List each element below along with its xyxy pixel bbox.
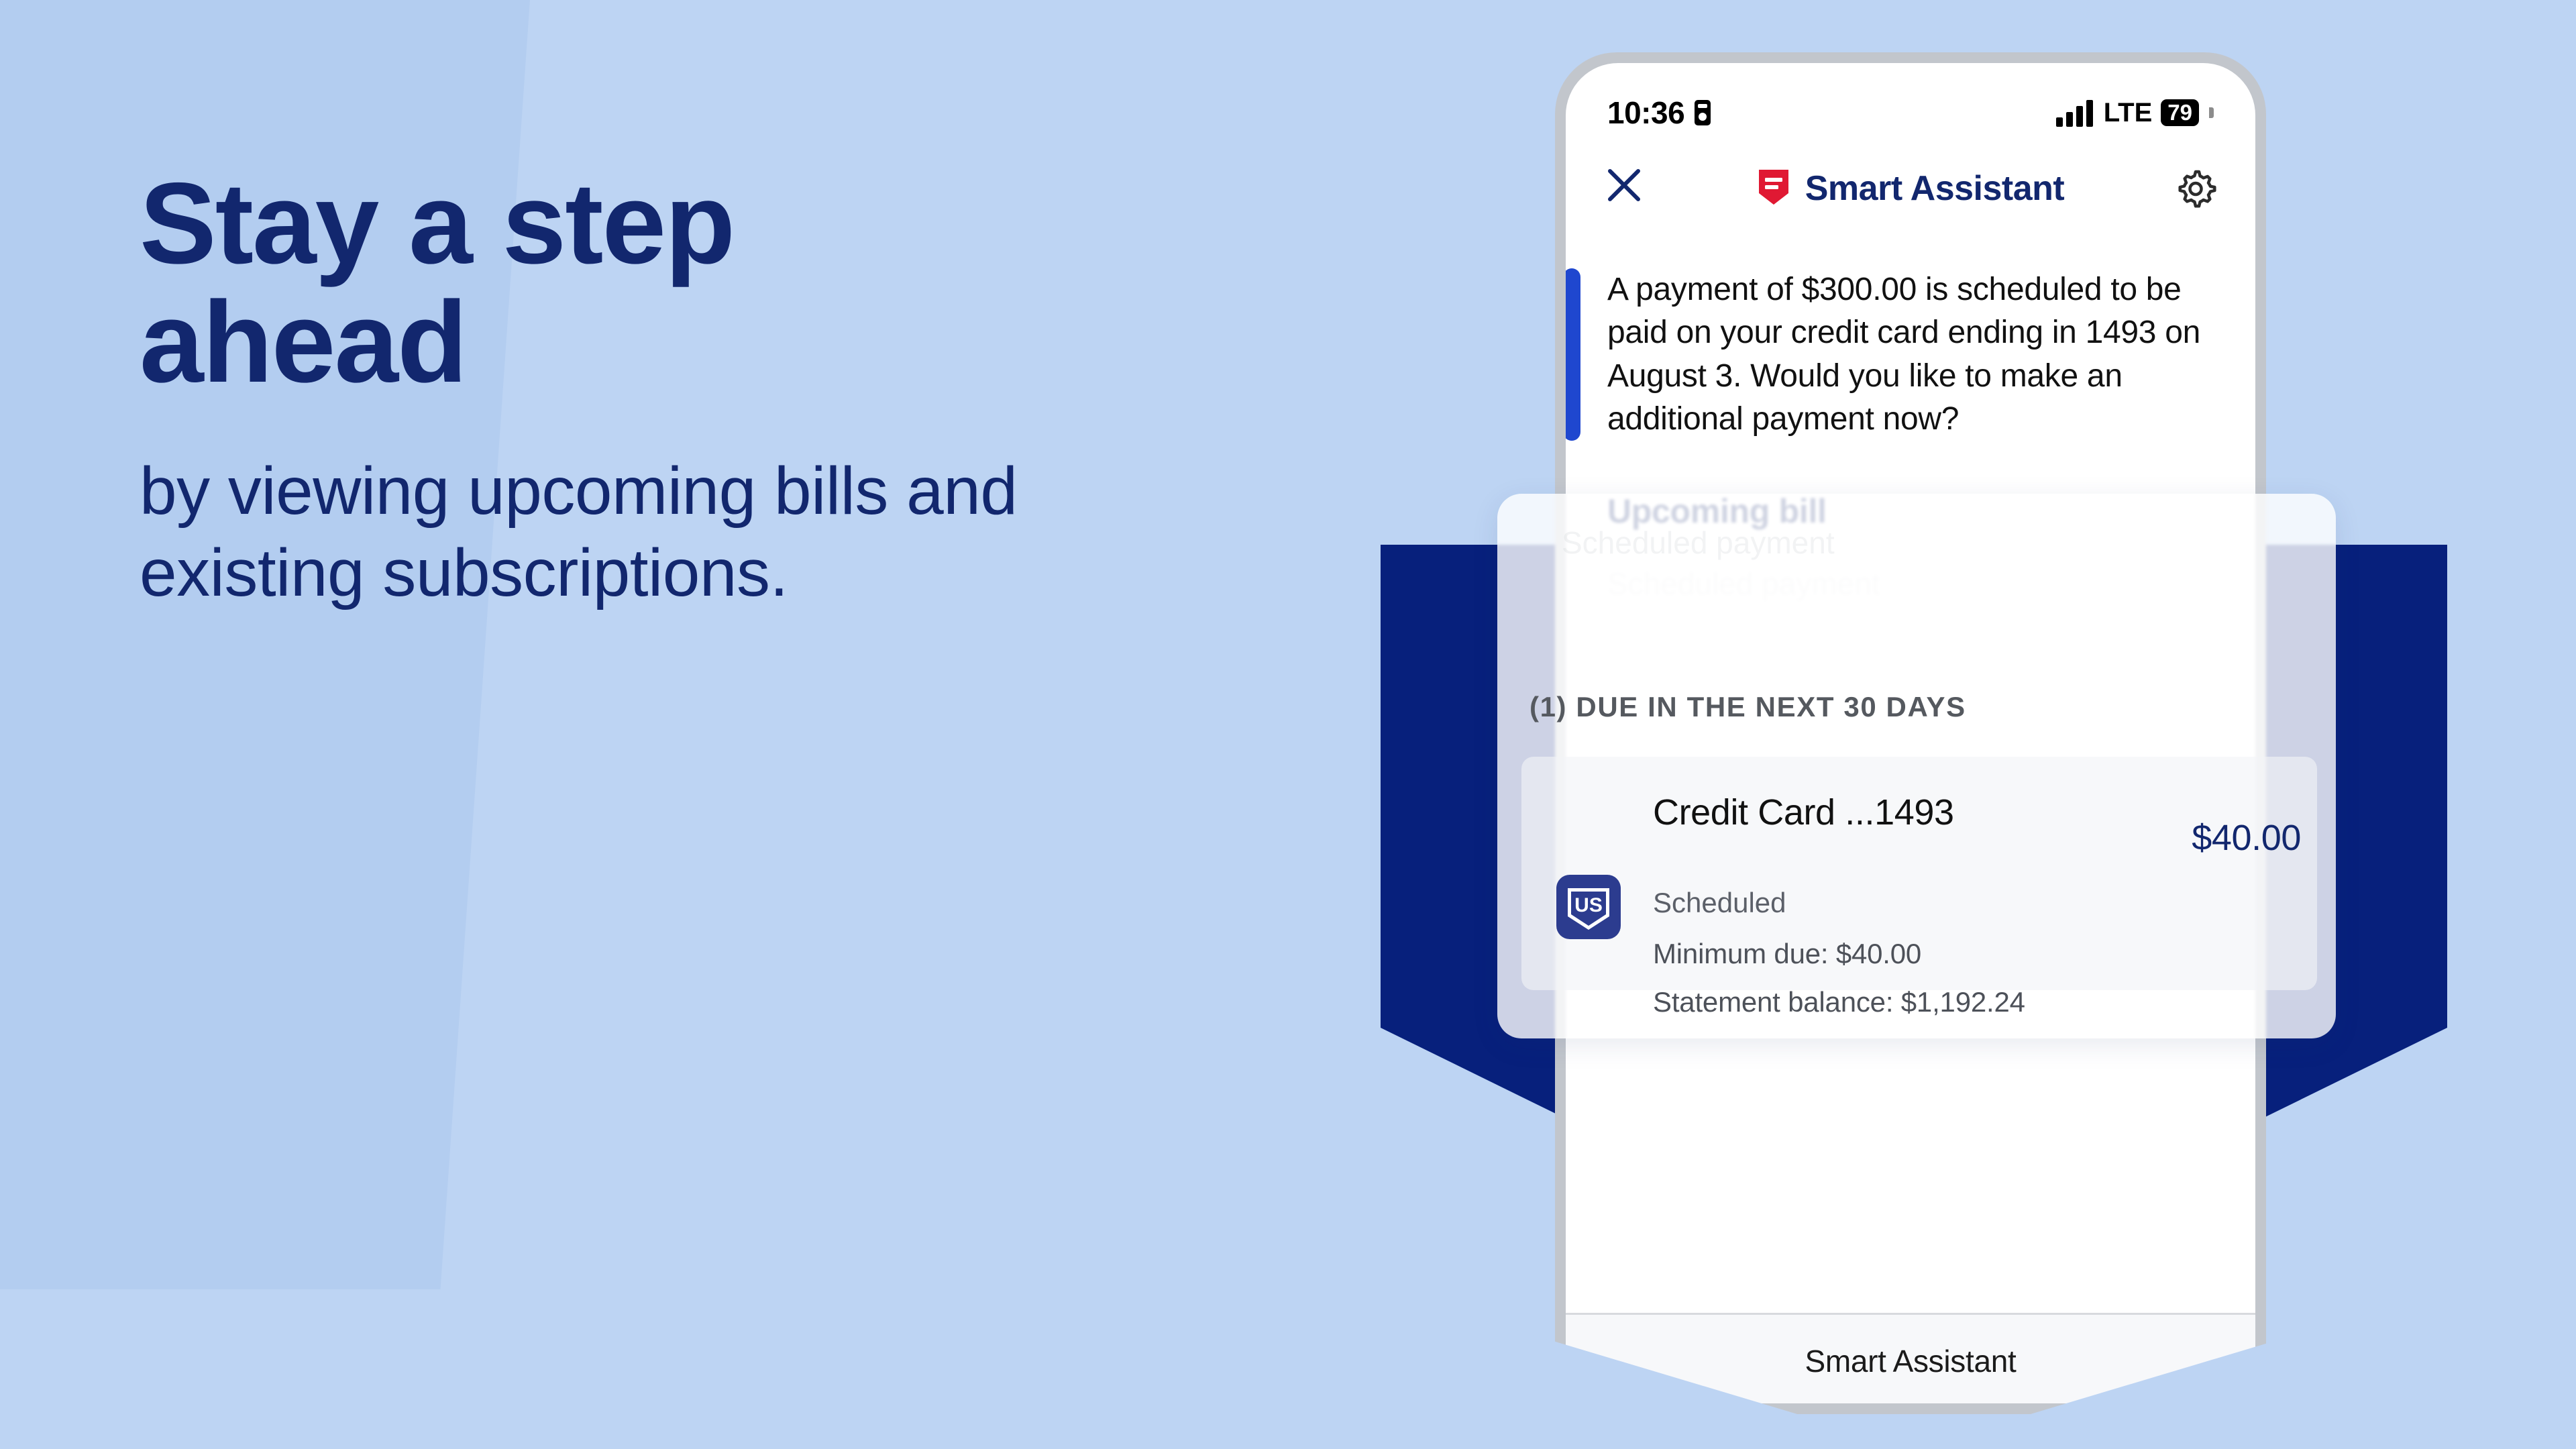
page-subtitle: by viewing upcoming bills and existing s… xyxy=(140,450,1213,614)
phone-bottom-label: Smart Assistant xyxy=(1566,1343,2255,1379)
close-icon[interactable] xyxy=(1605,166,1652,212)
battery-saver-icon xyxy=(1694,99,1711,126)
status-clock: 10:36 xyxy=(1607,95,1684,131)
status-bar-left: 10:36 xyxy=(1607,95,1711,131)
network-label: LTE xyxy=(2104,98,2153,128)
signal-bars-icon xyxy=(2056,99,2095,127)
upcoming-bill-overlay-card[interactable]: Scheduled payment (1) DUE IN THE NEXT 30… xyxy=(1497,494,2336,1038)
bill-title: Credit Card ...1493 xyxy=(1653,792,2002,835)
page-title: Stay a step ahead xyxy=(140,164,1012,402)
bill-status: Scheduled xyxy=(1653,887,1786,919)
status-bar: 10:36 L xyxy=(1566,63,2255,138)
svg-text:US: US xyxy=(1574,894,1603,916)
v-mask-left xyxy=(0,1289,1381,1449)
gear-icon[interactable] xyxy=(2175,166,2216,211)
message-text: A payment of $300.00 is scheduled to be … xyxy=(1607,268,2214,441)
battery-level-badge: 79 xyxy=(2161,99,2199,126)
app-title: Smart Assistant xyxy=(1805,168,2065,209)
due-in-30-days-label: (1) DUE IN THE NEXT 30 DAYS xyxy=(1529,691,1966,723)
bill-amount: $40.00 xyxy=(2192,817,2301,859)
assistant-message: A payment of $300.00 is scheduled to be … xyxy=(1566,268,2255,441)
brand-lockup: Smart Assistant xyxy=(1566,168,2255,210)
us-bank-shield-icon xyxy=(1757,168,1790,210)
app-header: Smart Assistant xyxy=(1566,138,2255,239)
marketing-copy: Stay a step ahead by viewing upcoming bi… xyxy=(140,164,1246,614)
v-mask-right xyxy=(2447,1289,2576,1449)
bill-detail-statement-balance: Statement balance: $1,192.24 xyxy=(1653,986,2025,1018)
message-accent-bar xyxy=(1566,268,1580,441)
status-bar-right: LTE 79 xyxy=(2056,98,2214,128)
battery-terminal-icon xyxy=(2209,107,2214,118)
phone-bottom-divider xyxy=(1566,1313,2255,1315)
overlay-ghost-text: Scheduled payment xyxy=(1562,525,1835,561)
us-bank-logo-icon: US xyxy=(1556,875,1621,939)
bill-detail-minimum-due: Minimum due: $40.00 xyxy=(1653,938,1921,970)
bill-detail-current-balance: Current balance: $1,952.77 xyxy=(1653,1034,1991,1038)
